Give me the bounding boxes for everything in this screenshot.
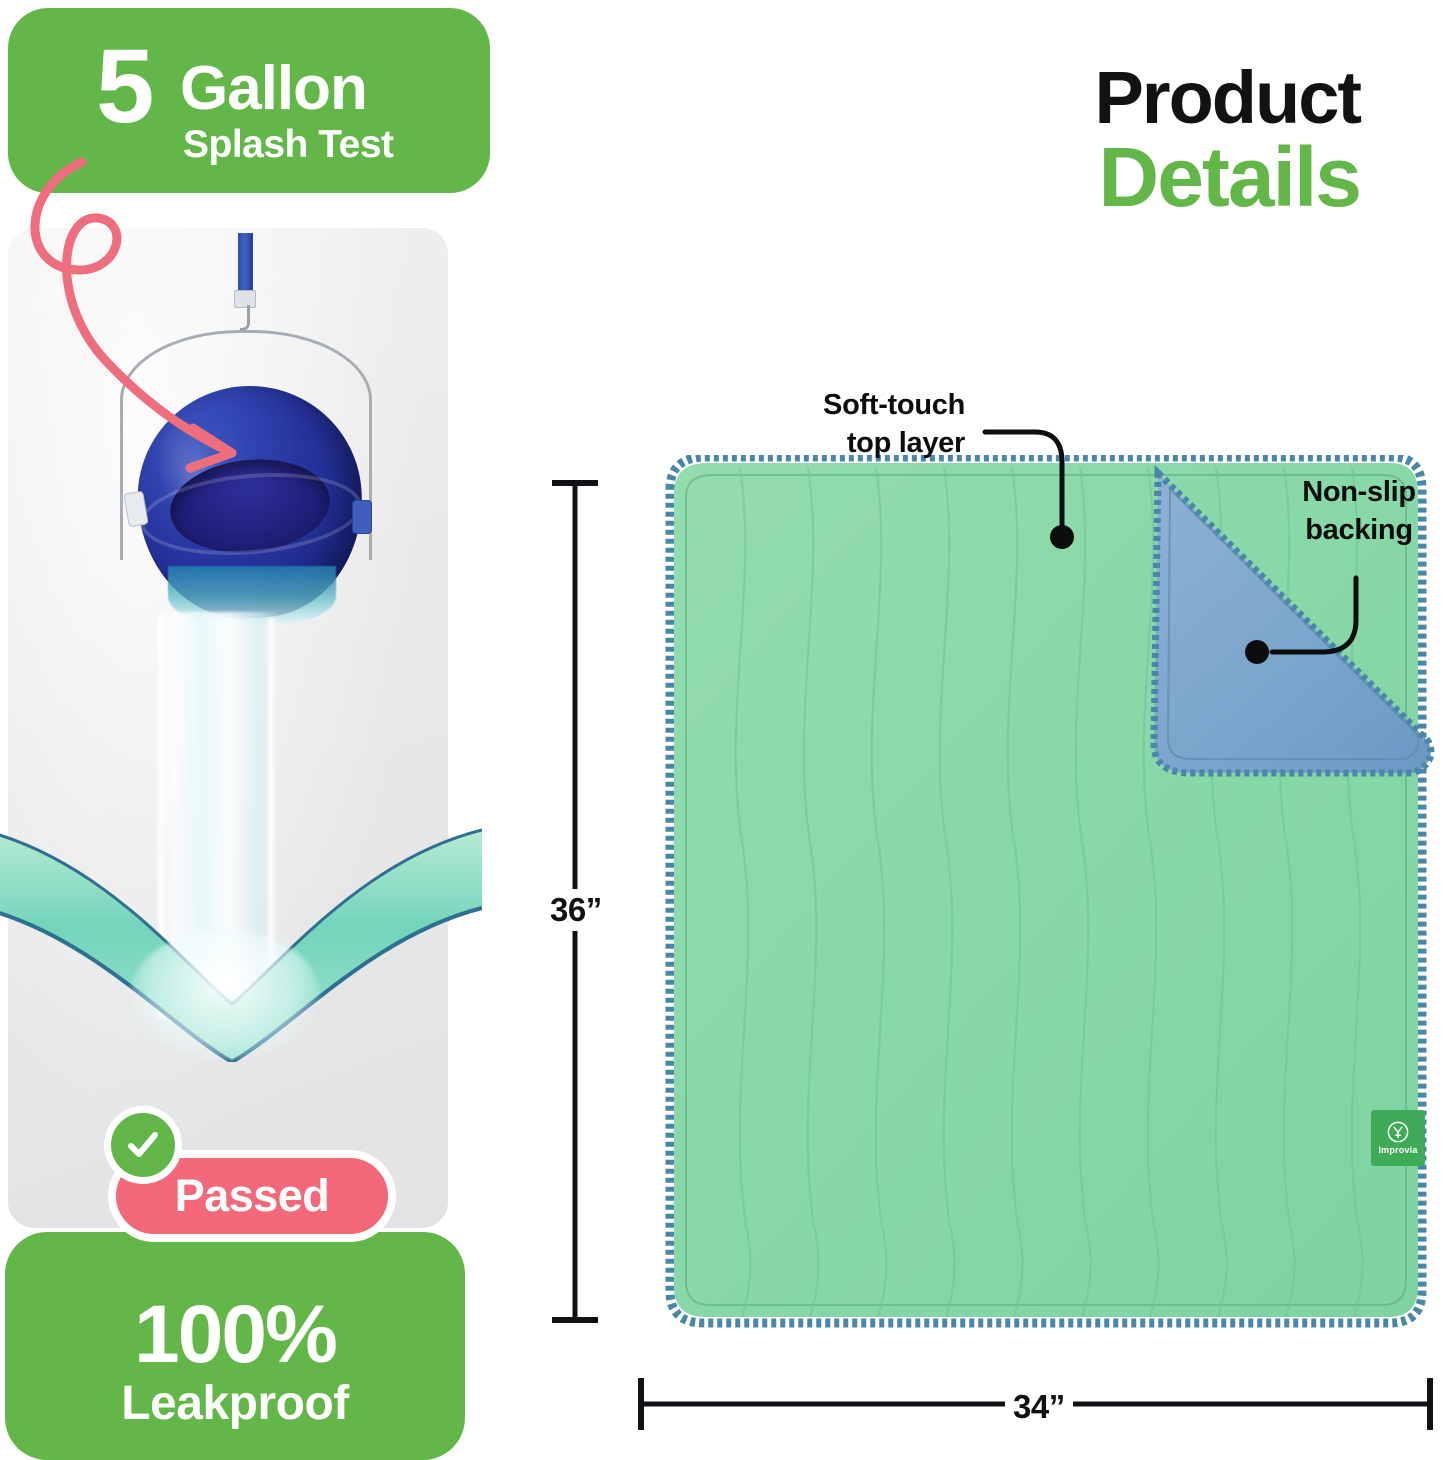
callout-non-slip-line2: backing bbox=[1283, 511, 1435, 549]
page-title-line1: Product bbox=[1094, 62, 1360, 135]
callout-non-slip-line1: Non-slip bbox=[1283, 473, 1435, 511]
leakproof-claim-panel: 100% Leakproof bbox=[5, 1232, 465, 1460]
splash-burst-icon bbox=[130, 930, 320, 1060]
callout-soft-touch-line1: Soft-touch bbox=[770, 386, 965, 424]
brand-tag-name: Improvia bbox=[1378, 1145, 1417, 1155]
check-circle-icon bbox=[104, 1106, 182, 1184]
bucket-ear-right bbox=[352, 500, 372, 534]
leakproof-percent: 100% bbox=[5, 1294, 465, 1376]
dimension-label-height: 36” bbox=[544, 889, 608, 931]
callout-soft-touch-line2: top layer bbox=[770, 424, 965, 462]
page-title-line2: Details bbox=[1094, 135, 1360, 219]
dimension-label-width: 34” bbox=[1005, 1386, 1073, 1428]
leakproof-label: Leakproof bbox=[5, 1380, 465, 1428]
page-title: Product Details bbox=[1094, 62, 1360, 219]
status-badge-label: Passed bbox=[175, 1170, 330, 1222]
infographic-canvas: 5 Gallon Splash Test bbox=[0, 0, 1445, 1460]
gallon-count: 5 bbox=[96, 34, 151, 139]
mat-top-layer bbox=[674, 463, 1418, 1317]
product-mat-illustration bbox=[630, 455, 1445, 1345]
callout-soft-touch: Soft-touch top layer bbox=[770, 386, 965, 463]
pink-curved-arrow-icon bbox=[10, 150, 290, 480]
brand-tag: Improvia bbox=[1371, 1110, 1425, 1166]
gallon-word-label: Gallon bbox=[180, 58, 367, 120]
improvia-logo-icon bbox=[1387, 1121, 1409, 1143]
callout-non-slip: Non-slip backing bbox=[1283, 473, 1435, 550]
